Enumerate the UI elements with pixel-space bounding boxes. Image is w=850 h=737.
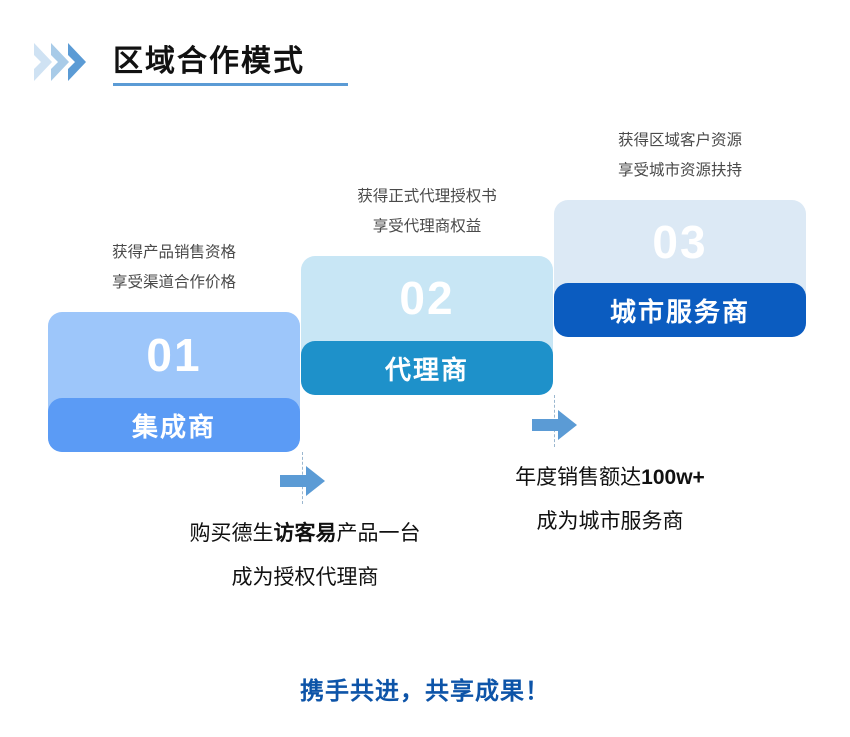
- step-02-caption-line-2: 享受代理商权益: [301, 212, 553, 242]
- arrow-right-icon-2: [532, 410, 578, 440]
- bottom-caption-2-line1-bold: 100w+: [641, 466, 705, 489]
- footer-slogan: 携手共进，共享成果！: [0, 671, 850, 706]
- step-03-caption-line-2: 享受城市资源扶持: [554, 156, 806, 186]
- bottom-caption-2-line-2: 成为城市服务商: [460, 500, 760, 544]
- step-02-card[interactable]: 02 代理商: [301, 256, 553, 395]
- bottom-caption-2-line1-pre: 年度销售额达: [515, 466, 641, 489]
- step-02-number: 02: [301, 275, 553, 321]
- bottom-caption-1-line1-post: 产品一台: [337, 522, 421, 545]
- bottom-caption-2: 年度销售额达100w+ 成为城市服务商: [460, 456, 760, 544]
- bottom-caption-1-line-2: 成为授权代理商: [155, 556, 455, 600]
- step-01-card[interactable]: 01 集成商: [48, 312, 300, 452]
- step-02-band: 代理商: [301, 341, 553, 395]
- chevron-right-icon-3: [66, 42, 92, 82]
- title-underline: [113, 83, 348, 86]
- step-01-number: 01: [48, 332, 300, 378]
- bottom-caption-1-line1-pre: 购买德生: [190, 522, 274, 545]
- step-01-caption-line-1: 获得产品销售资格: [48, 238, 300, 268]
- step-01-name: 集成商: [132, 407, 216, 444]
- infographic-canvas: 区域合作模式 获得产品销售资格 享受渠道合作价格 01 集成商 获得正式代理授权…: [0, 0, 850, 737]
- step-01-band: 集成商: [48, 398, 300, 452]
- step-02-caption-line-1: 获得正式代理授权书: [301, 182, 553, 212]
- step-03-band: 城市服务商: [554, 283, 806, 337]
- step-03-number: 03: [554, 219, 806, 265]
- bottom-caption-1-line-1: 购买德生访客易产品一台: [155, 512, 455, 556]
- step-03-caption-line-1: 获得区域客户资源: [554, 126, 806, 156]
- double-chevron-right-icon: [32, 42, 104, 82]
- step-02-caption: 获得正式代理授权书 享受代理商权益: [301, 182, 553, 242]
- step-01-caption-line-2: 享受渠道合作价格: [48, 268, 300, 298]
- step-03-name: 城市服务商: [610, 292, 750, 329]
- step-03-caption: 获得区域客户资源 享受城市资源扶持: [554, 126, 806, 186]
- header: 区域合作模式: [0, 0, 850, 110]
- bottom-caption-2-line-1: 年度销售额达100w+: [460, 456, 760, 500]
- page-title: 区域合作模式: [113, 41, 305, 83]
- bottom-caption-1-line1-bold: 访客易: [274, 522, 337, 545]
- step-01-caption: 获得产品销售资格 享受渠道合作价格: [48, 238, 300, 298]
- arrow-right-icon-1: [280, 466, 326, 496]
- bottom-caption-1: 购买德生访客易产品一台 成为授权代理商: [155, 512, 455, 600]
- step-03-card[interactable]: 03 城市服务商: [554, 200, 806, 337]
- step-02-name: 代理商: [385, 350, 469, 387]
